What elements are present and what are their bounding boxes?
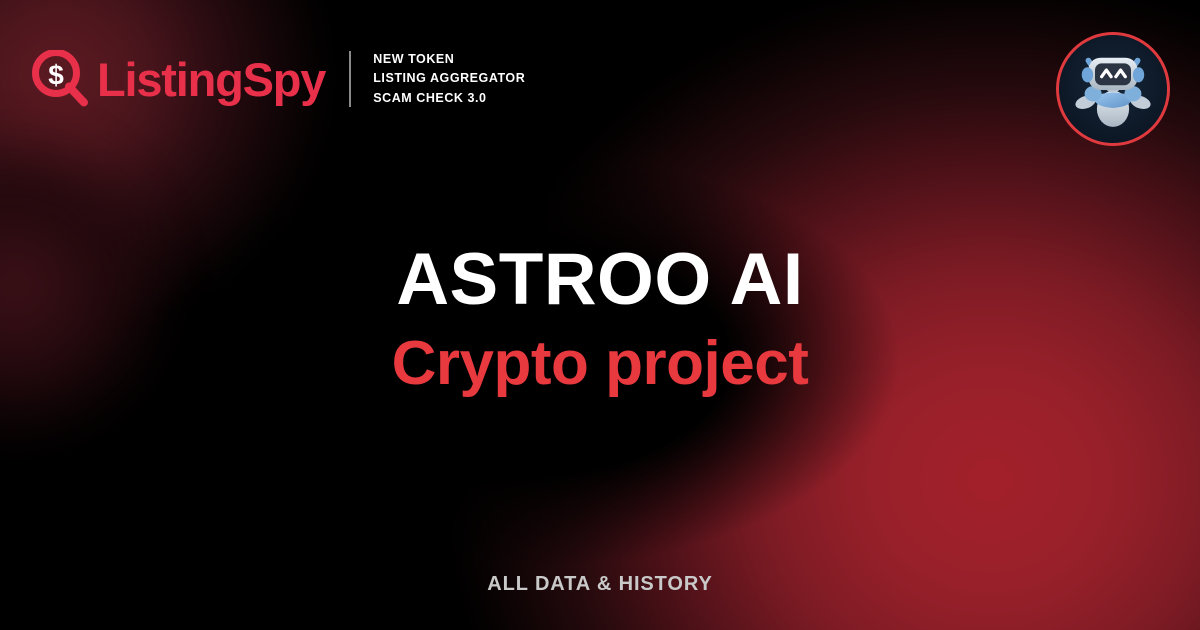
robot-mascot-icon [1059,35,1167,143]
brand-header[interactable]: $ ListingSpy NEW TOKEN LISTING AGGREGATO… [32,50,525,108]
promo-banner: $ ListingSpy NEW TOKEN LISTING AGGREGATO… [0,0,1200,630]
svg-text:$: $ [48,60,64,91]
brand-name-part2: Spy [243,53,326,106]
footer-caption: ALL DATA & HISTORY [0,573,1200,596]
page-title: ASTROO AI [0,243,1200,317]
hero-content: ASTROO AI Crypto project [0,243,1200,397]
tagline-line-2: LISTING AGGREGATOR [373,69,525,88]
header-divider [349,51,351,107]
tagline-line-1: NEW TOKEN [373,50,525,69]
brand-name-part1: Listing [97,53,243,106]
brand-wordmark: ListingSpy [97,56,325,103]
project-avatar[interactable] [1056,32,1170,146]
tagline-line-3: SCAM CHECK 3.0 [373,89,525,108]
brand-tagline: NEW TOKEN LISTING AGGREGATOR SCAM CHECK … [373,50,525,108]
page-subtitle: Crypto project [0,331,1200,396]
magnifier-dollar-icon: $ [32,50,90,108]
